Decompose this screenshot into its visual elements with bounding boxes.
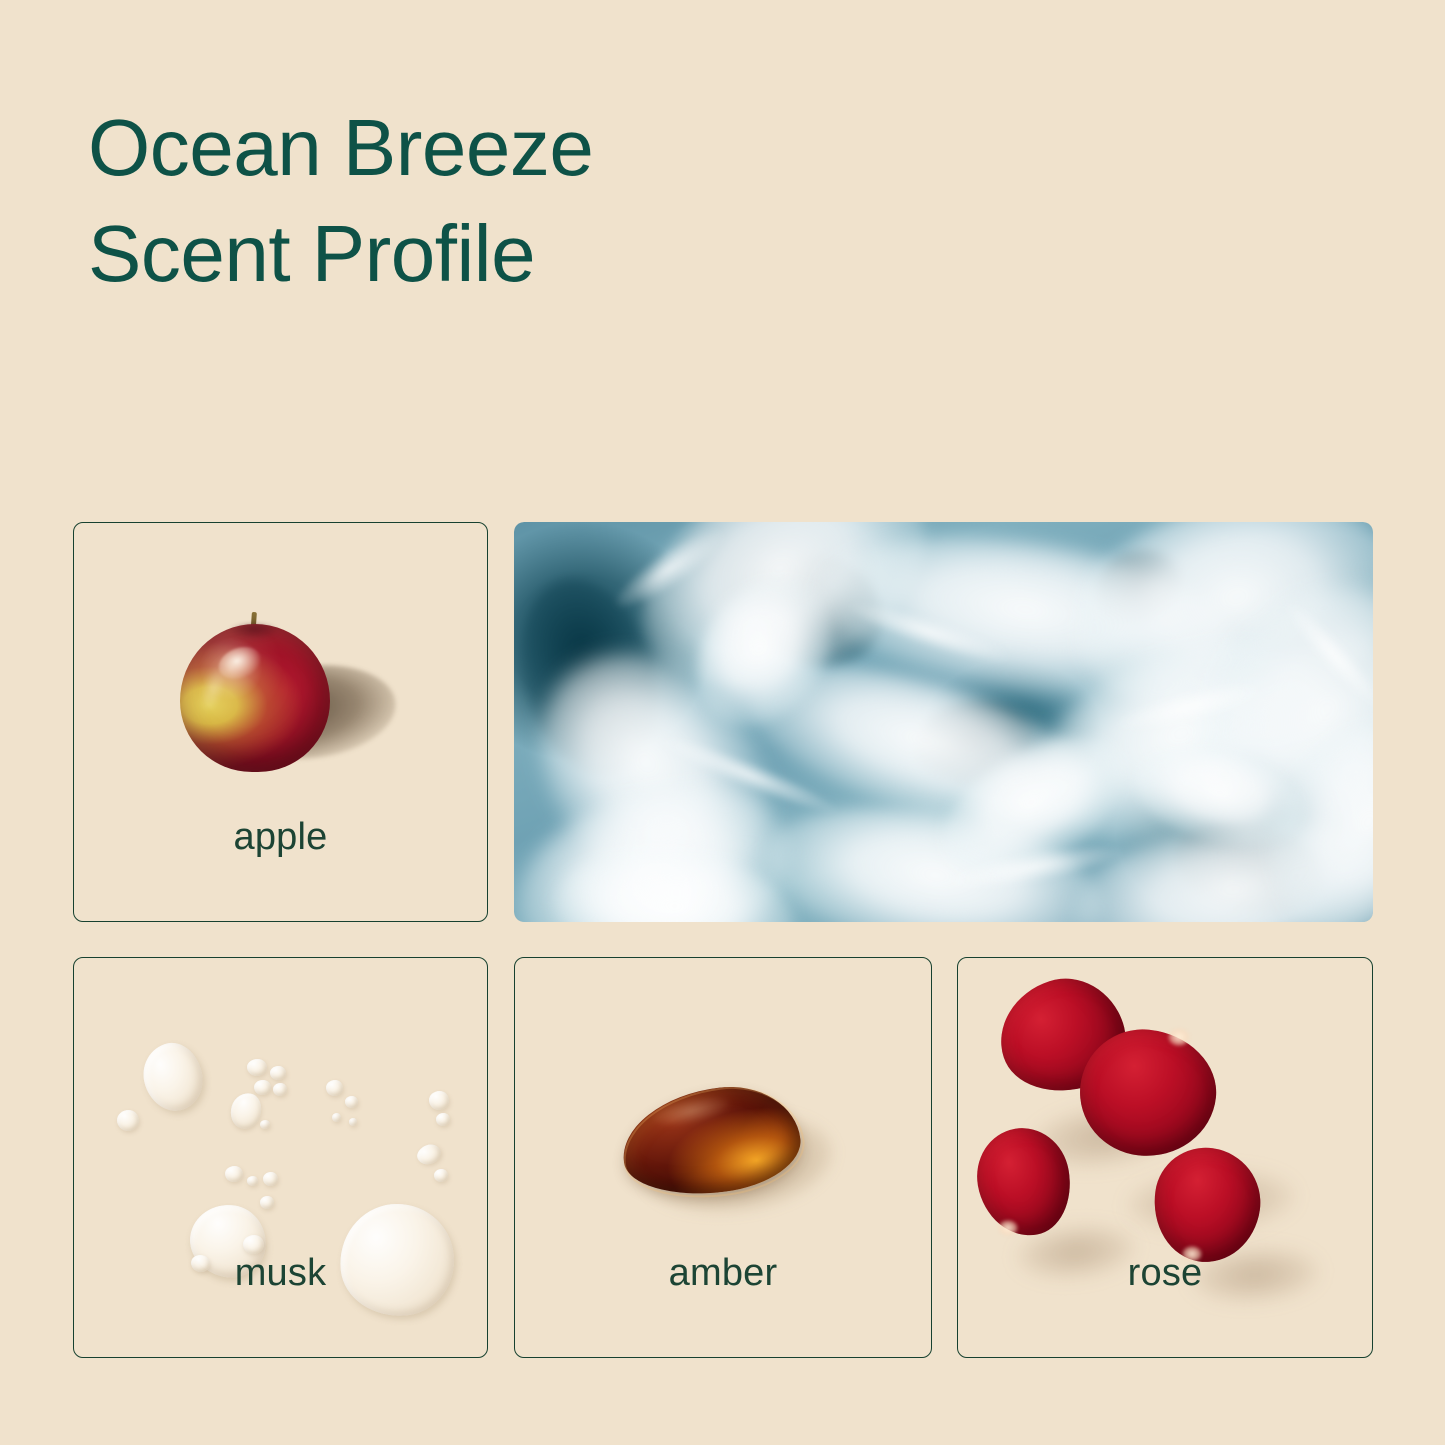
gel-droplet — [436, 1113, 450, 1126]
scent-card-label-amber: amber — [515, 1252, 931, 1295]
apple-stem-dimple — [228, 624, 280, 640]
scent-card-rose[interactable]: rose — [957, 957, 1373, 1358]
gel-droplet — [332, 1113, 341, 1122]
gel-droplet — [434, 1169, 448, 1182]
foam-wisp — [606, 522, 733, 619]
gel-droplet — [137, 1037, 210, 1117]
foam-wisp — [1113, 674, 1266, 739]
amber-stone-photo — [515, 958, 931, 1357]
gel-droplet — [326, 1080, 343, 1096]
gel-droplet — [345, 1096, 358, 1108]
ocean-water-photo — [514, 522, 1373, 922]
gel-droplets-photo — [74, 958, 487, 1357]
scent-card-musk[interactable]: musk — [73, 957, 488, 1358]
gel-droplet — [349, 1118, 357, 1126]
apple-illustration — [166, 604, 396, 794]
petal-base-tip — [998, 1220, 1018, 1236]
sea-foam — [548, 840, 799, 922]
rose-petals-photo — [958, 958, 1372, 1357]
amber-illustration — [608, 1073, 838, 1223]
scent-card-ocean[interactable] — [514, 522, 1373, 922]
foam-wisp — [1278, 594, 1374, 715]
gel-droplet — [429, 1091, 449, 1110]
gel-droplet — [247, 1059, 267, 1076]
gel-droplet — [254, 1080, 271, 1095]
gel-droplet — [414, 1141, 443, 1167]
scent-card-amber[interactable]: amber — [514, 957, 932, 1358]
gel-droplet — [260, 1120, 270, 1129]
gel-droplet — [225, 1166, 243, 1182]
page-title: Ocean Breeze Scent Profile — [88, 95, 988, 306]
scent-card-apple[interactable]: apple — [73, 522, 488, 922]
scent-notes-grid: apple — [73, 522, 1373, 1358]
gel-droplet — [263, 1172, 278, 1186]
gel-droplet — [260, 1196, 274, 1209]
ocean-deep-water — [909, 694, 1039, 790]
foam-wisp — [943, 837, 1125, 898]
apple-photo — [74, 523, 487, 921]
gel-droplet — [117, 1110, 139, 1131]
gel-droplet — [247, 1176, 258, 1186]
ocean-deep-water — [1084, 538, 1194, 637]
petal-base-tip — [1168, 1028, 1190, 1046]
scent-card-label-rose: rose — [958, 1252, 1372, 1295]
gel-droplet — [273, 1083, 287, 1096]
scent-card-label-musk: musk — [74, 1252, 487, 1295]
scent-card-label-apple: apple — [74, 816, 487, 859]
foam-wisp — [656, 727, 842, 822]
ocean-deep-water — [1166, 807, 1331, 922]
gel-droplet — [270, 1066, 286, 1080]
